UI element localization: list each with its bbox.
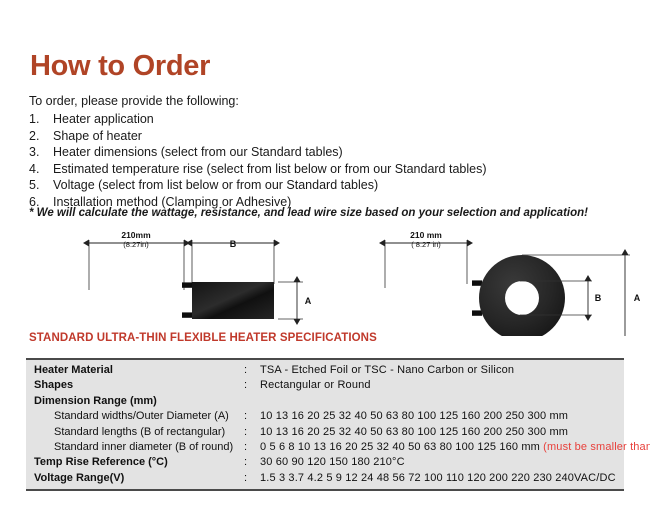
- heater-inner-hole: [505, 281, 539, 315]
- page-title: How to Order: [30, 52, 210, 81]
- round-heater-diagram: 210 mm ( 8.27 in) B A: [384, 230, 641, 336]
- row-value: 10 13 16 20 25 32 40 50 63 80 100 125 16…: [260, 425, 624, 440]
- list-item-label: Voltage (select from list below or from …: [53, 177, 629, 194]
- list-item-label: Heater dimensions (select from our Stand…: [53, 144, 629, 161]
- list-item-label: Shape of heater: [53, 128, 629, 145]
- list-item: 1. Heater application: [29, 111, 629, 128]
- list-item-number: 5.: [29, 177, 53, 194]
- row-value-text: 0 5 6 8 10 13 16 20 25 32 40 50 63 80 10…: [260, 441, 543, 453]
- row-colon: :: [244, 378, 260, 393]
- diagram-svg: 210mm (8.27in) B A 210 mm ( 8.27 in): [0, 226, 650, 336]
- row-colon: :: [244, 409, 260, 424]
- row-label: Voltage Range(V): [26, 471, 244, 486]
- list-item-number: 3.: [29, 144, 53, 161]
- round-lead-length-in: ( 8.27 in): [411, 240, 441, 249]
- rect-width-label: B: [230, 239, 237, 249]
- table-row: Dimension Range (mm): [26, 394, 624, 409]
- wire-terminal-bottom: [182, 312, 193, 317]
- list-item: 5. Voltage (select from list below or fr…: [29, 177, 629, 194]
- list-item-number: 2.: [29, 128, 53, 145]
- wire-terminal-top: [182, 282, 193, 287]
- heater-diagrams: 210mm (8.27in) B A 210 mm ( 8.27 in): [0, 226, 650, 336]
- row-value: Rectangular or Round: [260, 378, 624, 393]
- intro-text: To order, please provide the following:: [29, 94, 239, 108]
- list-item-label: Estimated temperature rise (select from …: [53, 161, 629, 178]
- row-colon: :: [244, 425, 260, 440]
- table-row: Standard lengths (B of rectangular) : 10…: [26, 425, 624, 440]
- table-row: Voltage Range(V) : 1.5 3 3.7 4.2 5 9 12 …: [26, 471, 624, 489]
- list-item: 4. Estimated temperature rise (select fr…: [29, 161, 629, 178]
- spec-section-heading: STANDARD ULTRA-THIN FLEXIBLE HEATER SPEC…: [29, 332, 377, 344]
- rect-height-label: A: [305, 296, 312, 306]
- table-row: Shapes : Rectangular or Round: [26, 378, 624, 393]
- round-lead-length-mm: 210 mm: [410, 230, 442, 240]
- row-value-warning: (must be smaller than A): [543, 441, 650, 453]
- table-row: Standard widths/Outer Diameter (A) : 10 …: [26, 409, 624, 424]
- row-colon: :: [244, 455, 260, 470]
- row-label: Standard lengths (B of rectangular): [26, 425, 244, 440]
- wire-terminal-bottom: [472, 310, 482, 315]
- table-row: Standard inner diameter (B of round) : 0…: [26, 440, 624, 455]
- row-label: Heater Material: [26, 363, 244, 378]
- row-value: 10 13 16 20 25 32 40 50 63 80 100 125 16…: [260, 409, 624, 424]
- heater-plate: [192, 282, 274, 319]
- calculation-note: * We will calculate the wattage, resista…: [29, 207, 588, 219]
- list-item-label: Heater application: [53, 111, 629, 128]
- row-label: Temp Rise Reference (°C): [26, 455, 244, 470]
- rectangular-heater-diagram: 210mm (8.27in) B A: [88, 230, 312, 319]
- list-item: 3. Heater dimensions (select from our St…: [29, 144, 629, 161]
- row-label: Standard inner diameter (B of round): [26, 440, 244, 455]
- list-item-number: 4.: [29, 161, 53, 178]
- row-label: Shapes: [26, 378, 244, 393]
- row-label: Dimension Range (mm): [26, 394, 244, 409]
- order-steps-list: 1. Heater application 2. Shape of heater…: [29, 111, 629, 211]
- row-colon: :: [244, 471, 260, 486]
- row-value: 1.5 3 3.7 4.2 5 9 12 24 48 56 72 100 110…: [260, 471, 624, 486]
- list-item-number: 1.: [29, 111, 53, 128]
- rect-lead-length-in: (8.27in): [123, 240, 149, 249]
- table-row: Temp Rise Reference (°C) : 30 60 90 120 …: [26, 455, 624, 470]
- specifications-table: Heater Material : TSA - Etched Foil or T…: [26, 358, 624, 491]
- row-colon: :: [244, 363, 260, 378]
- row-value: 30 60 90 120 150 180 210°C: [260, 455, 624, 470]
- wire-terminal-top: [472, 280, 482, 285]
- row-colon: :: [244, 440, 260, 455]
- row-value: TSA - Etched Foil or TSC - Nano Carbon o…: [260, 363, 624, 378]
- row-label: Standard widths/Outer Diameter (A): [26, 409, 244, 424]
- round-inner-label: B: [595, 293, 602, 303]
- rect-lead-length-mm: 210mm: [121, 230, 151, 240]
- list-item: 2. Shape of heater: [29, 128, 629, 145]
- row-value: 0 5 6 8 10 13 16 20 25 32 40 50 63 80 10…: [260, 440, 650, 455]
- round-outer-label: A: [634, 293, 641, 303]
- table-row: Heater Material : TSA - Etched Foil or T…: [26, 360, 624, 378]
